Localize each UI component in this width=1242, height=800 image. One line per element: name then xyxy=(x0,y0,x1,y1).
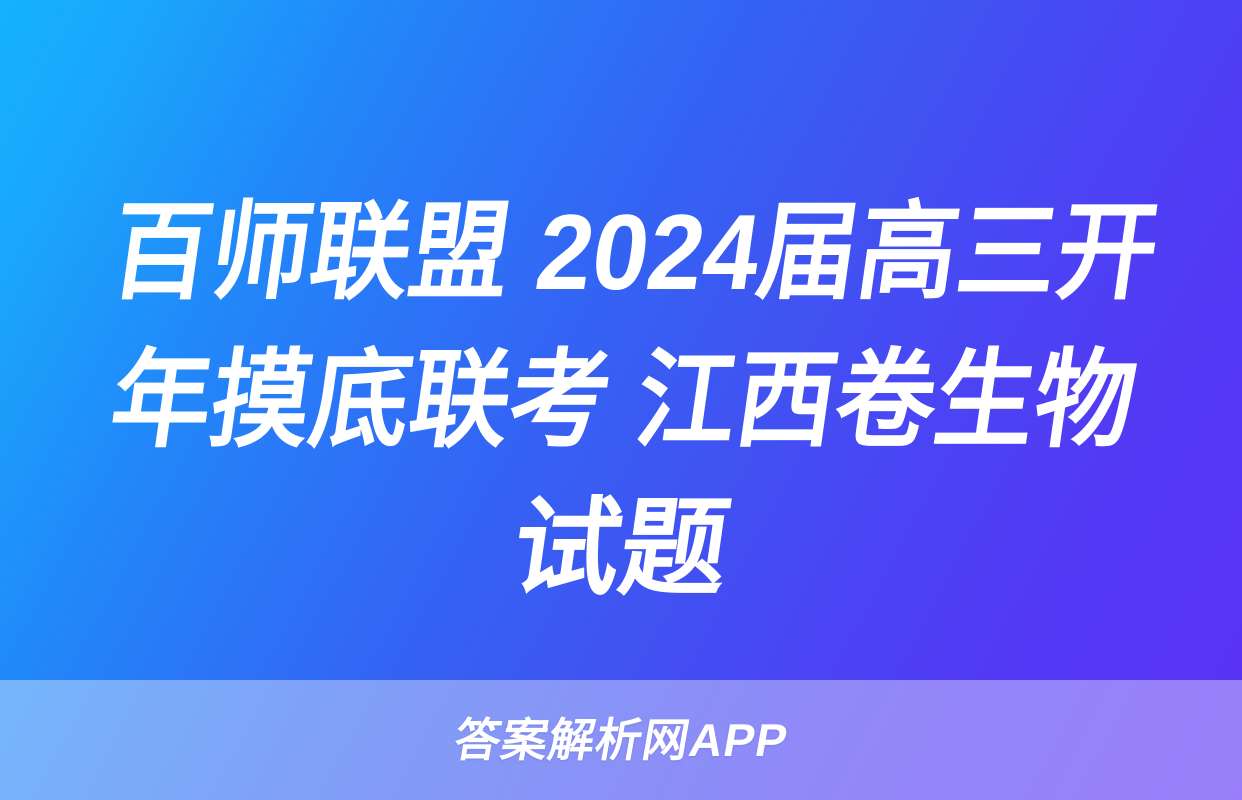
exam-paper-cover-poster: 百师联盟 2024届高三开 年摸底联考 江西卷生物 试题 答案解析网APP xyxy=(0,0,1242,800)
title-line-1: 百师联盟 2024届高三开 xyxy=(102,178,1140,326)
title-line-2: 年摸底联考 江西卷生物 xyxy=(102,326,1140,474)
watermark-label: 答案解析网APP xyxy=(451,717,792,763)
title-line-3: 试题 xyxy=(64,474,1179,622)
watermark-band: 答案解析网APP xyxy=(0,680,1242,800)
page-title: 百师联盟 2024届高三开 年摸底联考 江西卷生物 试题 xyxy=(0,178,1242,622)
